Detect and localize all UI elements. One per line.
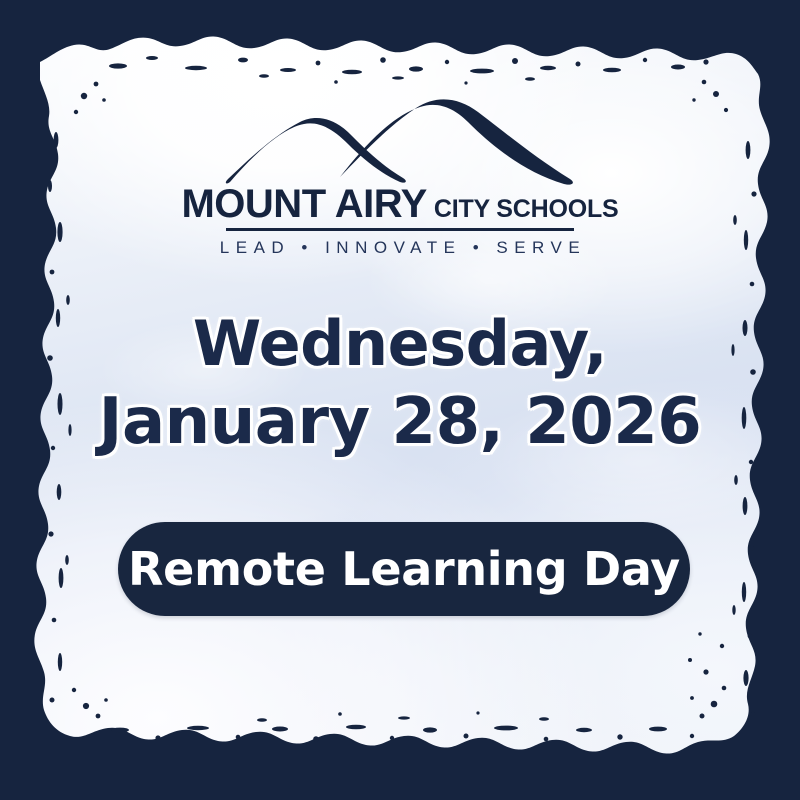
headline-line-1: Wednesday, xyxy=(0,305,800,383)
banner-label: Remote Learning Day xyxy=(128,546,680,592)
logo-tagline: LEAD • INNOVATE • SERVE xyxy=(214,238,586,258)
announcement-date: Wednesday, January 28, 2026 xyxy=(0,305,800,461)
logo-divider-rule xyxy=(226,228,574,231)
logo-wordmark-sub: CITY SCHOOLS xyxy=(434,197,619,222)
mountain-peaks-icon xyxy=(224,98,576,186)
announcement-poster: MOUNT AIRY CITY SCHOOLS LEAD • INNOVATE … xyxy=(0,0,800,800)
logo-wordmark-main: MOUNT AIRY xyxy=(181,184,426,224)
district-logo: MOUNT AIRY CITY SCHOOLS LEAD • INNOVATE … xyxy=(0,98,800,258)
headline-line-2: January 28, 2026 xyxy=(0,383,800,461)
remote-learning-day-banner: Remote Learning Day xyxy=(118,522,690,616)
